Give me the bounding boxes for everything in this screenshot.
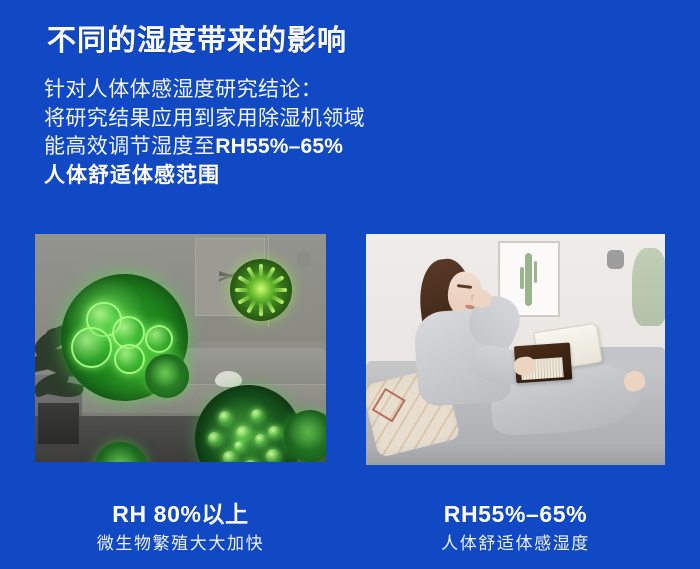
body-line-3-highlight: RH55%–65% <box>215 135 343 158</box>
virus-spike <box>237 275 250 285</box>
virus-spike <box>246 300 256 313</box>
virus-spike <box>259 264 263 277</box>
microbe-bubble <box>71 327 112 368</box>
virus-spike <box>259 303 263 316</box>
microbe-dot <box>219 411 232 424</box>
virus-spike <box>271 275 284 285</box>
microbe-dot <box>266 449 280 462</box>
page-title: 不同的湿度带来的影响 <box>47 17 347 59</box>
body-line-3: 能高效调节湿度至RH55%–65% <box>44 133 365 162</box>
microbe-dot <box>268 426 281 439</box>
virus-spike <box>266 266 276 279</box>
caption-left-title: RH 80%以上 <box>35 500 326 528</box>
body-line-4: 人体舒适体感范围 <box>44 162 365 191</box>
microbe-bubble <box>145 325 173 353</box>
slide-root: 不同的湿度带来的影响 针对人体体感湿度研究结论： 将研究结果应用到家用除湿机领域… <box>0 0 700 569</box>
dim-room-scene <box>35 234 326 462</box>
microbe-dot <box>255 434 266 445</box>
dim-wall-knob <box>297 252 310 267</box>
microbe-dot <box>251 409 264 422</box>
dim-bird-ornament <box>215 371 241 387</box>
microbe-virus-corona <box>230 259 292 321</box>
body-line-3-prefix: 能高效调节湿度至 <box>44 135 215 158</box>
caption-right-title: RH55%–65% <box>366 500 665 528</box>
microbe-dot <box>244 460 258 462</box>
lit-room-scene <box>366 234 665 465</box>
photo-right-comfort <box>366 234 665 465</box>
caption-left-subtitle: 微生物繁殖大大加快 <box>35 531 326 557</box>
microbe-small-upper <box>145 354 189 398</box>
microbe-bubble <box>114 344 144 374</box>
virus-spike <box>266 300 276 313</box>
woman-reading <box>393 255 650 451</box>
caption-right: RH55%–65% 人体舒适体感湿度 <box>366 500 665 557</box>
microbe-dot <box>208 432 221 445</box>
virus-spike <box>274 288 287 292</box>
caption-left: RH 80%以上 微生物繁殖大大加快 <box>35 500 326 557</box>
photo-left-microbes <box>35 234 326 462</box>
microbe-dot <box>234 441 245 452</box>
body-line-2: 将研究结果应用到家用除湿机领域 <box>44 105 365 134</box>
virus-spike <box>237 295 250 305</box>
virus-spike <box>246 266 256 279</box>
body-line-1: 针对人体体感湿度研究结论： <box>44 76 365 105</box>
microbe-dot <box>223 451 236 462</box>
dim-leaf <box>46 379 84 400</box>
dim-plant-pot <box>38 403 79 443</box>
virus-spike <box>235 288 248 292</box>
caption-right-subtitle: 人体舒适体感湿度 <box>366 531 665 557</box>
virus-spike <box>271 295 284 305</box>
microbe-dot <box>236 426 250 440</box>
body-copy: 针对人体体感湿度研究结论： 将研究结果应用到家用除湿机领域 能高效调节湿度至RH… <box>44 76 365 190</box>
